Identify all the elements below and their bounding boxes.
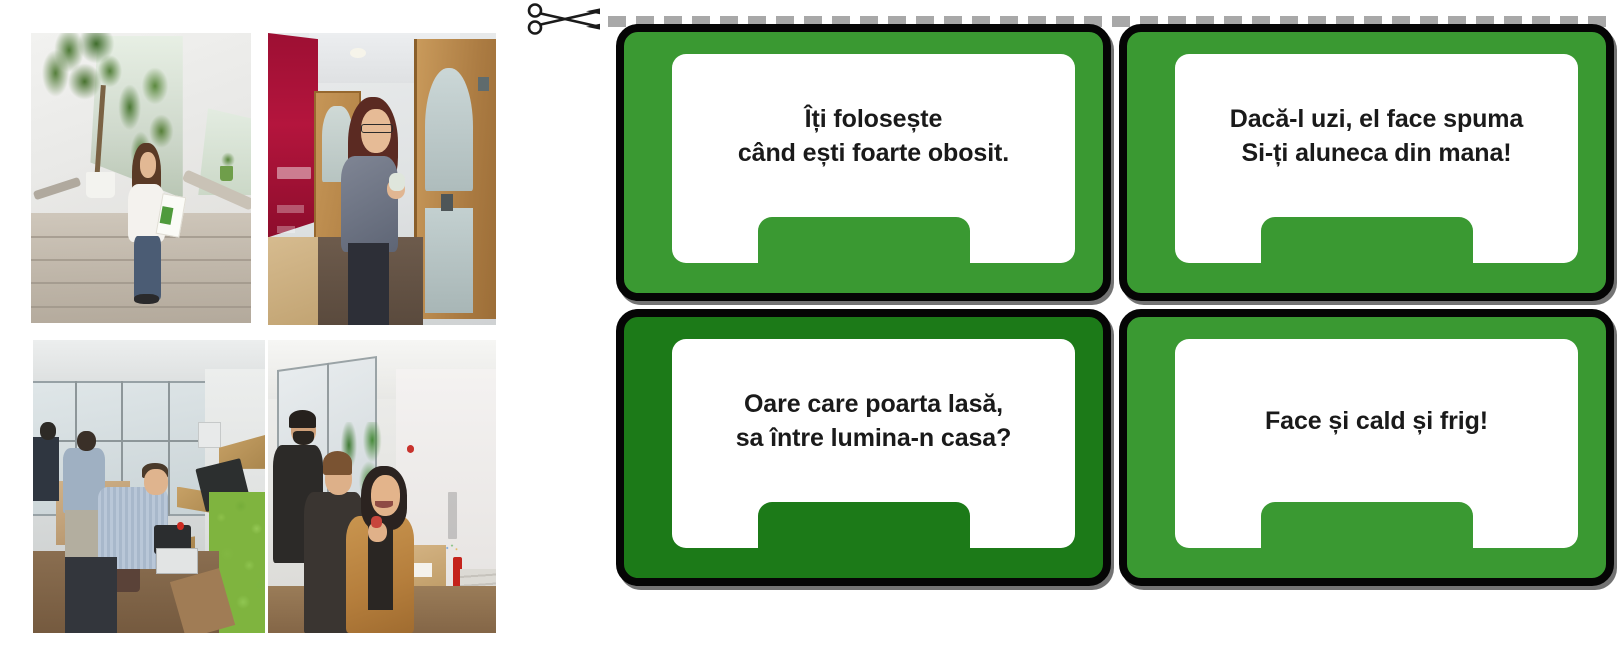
card-3-notch <box>758 502 970 562</box>
banner-text-block <box>277 205 304 212</box>
person-face <box>140 152 157 178</box>
glasses-icon <box>361 124 393 134</box>
door-hinge <box>478 77 489 92</box>
plant-pot-small <box>220 166 233 181</box>
desk-device <box>156 548 198 574</box>
card-row-top: Îți folosește când ești foarte obosit. D… <box>616 24 1614 301</box>
photo-2-scene <box>268 33 496 325</box>
wall-logo-dots <box>444 542 460 554</box>
photo-gallery <box>31 33 496 633</box>
banner-text-block <box>277 226 295 233</box>
card-row-bottom: Oare care poarta lasă, sa între lumina-n… <box>616 309 1614 586</box>
photo-stairwell <box>31 33 251 323</box>
glass-mullion <box>168 381 170 516</box>
banner-text-block <box>277 167 311 179</box>
card-1-text: Îți folosește când ești foarte obosit. <box>738 102 1009 170</box>
person-foreground-head <box>144 469 167 495</box>
held-object <box>389 173 405 191</box>
person-foreground-legs <box>65 557 116 633</box>
ceiling-light-icon <box>350 48 366 58</box>
held-object <box>371 516 382 528</box>
card-4-text: Face și cald și frig! <box>1265 404 1488 438</box>
glass-mullion <box>33 440 209 442</box>
riddle-card-2[interactable]: Dacă-l uzi, el face spuma Si-ți aluneca … <box>1119 24 1614 301</box>
stair-step <box>31 306 251 308</box>
photo-1-scene <box>31 33 251 323</box>
door-hinge <box>441 194 452 212</box>
person-background-head <box>40 422 56 440</box>
riddle-card-3[interactable]: Oare care poarta lasă, sa între lumina-n… <box>616 309 1111 586</box>
photo-3-scene <box>33 340 265 633</box>
person-middle-hair <box>323 451 353 474</box>
photo-corridor <box>268 33 496 325</box>
photo-4-scene <box>268 340 496 633</box>
person-shoes <box>134 294 158 304</box>
card-4-notch <box>1261 502 1473 562</box>
person-legs <box>348 243 389 325</box>
card-2-text: Dacă-l uzi, el face spuma Si-ți aluneca … <box>1230 102 1523 170</box>
box-label <box>414 563 432 578</box>
person-standing-head <box>77 431 96 452</box>
door-near-glass-lower <box>425 208 473 313</box>
riddle-card-1[interactable]: Îți folosește când ești foarte obosit. <box>616 24 1111 301</box>
person-top <box>341 156 398 252</box>
card-1-notch <box>758 217 970 277</box>
person-left-hair <box>289 410 316 428</box>
person-background-body <box>33 437 59 501</box>
photo-group <box>268 340 496 633</box>
wall-vent <box>198 422 221 448</box>
riddle-card-grid: Îți folosește când ești foarte obosit. D… <box>616 24 1614 586</box>
card-3-text: Oare care poarta lasă, sa între lumina-n… <box>736 387 1012 455</box>
red-indicator <box>177 522 184 531</box>
scissors-icon <box>524 2 602 36</box>
door-near-glass-upper <box>425 68 473 191</box>
photo-office <box>33 340 265 633</box>
person-legs <box>134 236 160 300</box>
wall-logo-text <box>448 492 457 539</box>
cardboard-box <box>268 237 318 325</box>
plant-pot <box>86 172 115 198</box>
page-root: Îți folosește când ești foarte obosit. D… <box>0 0 1619 662</box>
card-2-notch <box>1261 217 1473 277</box>
riddle-card-4[interactable]: Face și cald și frig! <box>1119 309 1614 586</box>
person-front-face <box>371 475 401 516</box>
